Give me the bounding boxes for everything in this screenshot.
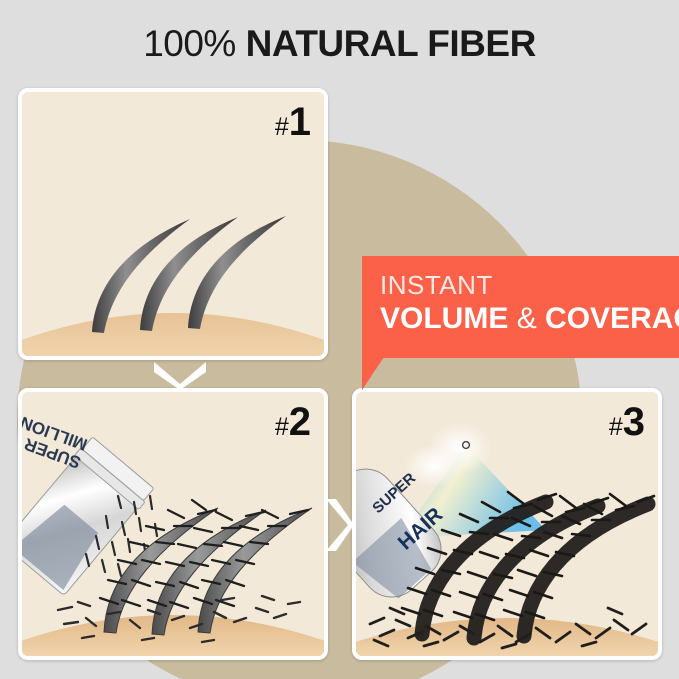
callout-text-block: INSTANT VOLUME & COVERAGE bbox=[380, 270, 679, 338]
panel-2-hash: # bbox=[275, 413, 289, 441]
panel-1-number: #1 bbox=[275, 100, 310, 145]
step-panel-1[interactable]: #1 bbox=[18, 88, 328, 360]
panel-3-number: #3 bbox=[609, 400, 644, 445]
callout-coverage: COVERAGE bbox=[545, 302, 679, 335]
panel-2-digit: 2 bbox=[289, 400, 310, 444]
panel-3-hash: # bbox=[609, 413, 623, 441]
panel-1-digit: 1 bbox=[289, 100, 310, 144]
callout-ampersand: & bbox=[517, 302, 537, 335]
panel-3-digit: 3 bbox=[623, 400, 644, 444]
chevron-down-icon bbox=[150, 358, 210, 390]
infographic-root: 100% NATURAL FIBER bbox=[0, 0, 679, 679]
callout-line-instant: INSTANT bbox=[380, 270, 679, 300]
callout-volume: VOLUME bbox=[380, 302, 508, 335]
headline-percent: 100% bbox=[143, 23, 236, 64]
callout-banner: INSTANT VOLUME & COVERAGE bbox=[362, 256, 679, 358]
panel-2-number: #2 bbox=[275, 400, 310, 445]
panel-1-hash: # bbox=[275, 113, 289, 141]
callout-tail bbox=[362, 357, 384, 390]
step-panel-2[interactable]: SUPER MILLION bbox=[18, 388, 328, 660]
nozzle-dot bbox=[463, 442, 470, 449]
headline-emphasis: NATURAL FIBER bbox=[246, 23, 536, 64]
step-panel-3[interactable]: SUPER HAIR bbox=[352, 388, 662, 660]
chevron-right-icon bbox=[322, 495, 354, 555]
callout-line-volume-coverage: VOLUME & COVERAGE bbox=[380, 300, 679, 338]
page-title: 100% NATURAL FIBER bbox=[0, 22, 679, 66]
